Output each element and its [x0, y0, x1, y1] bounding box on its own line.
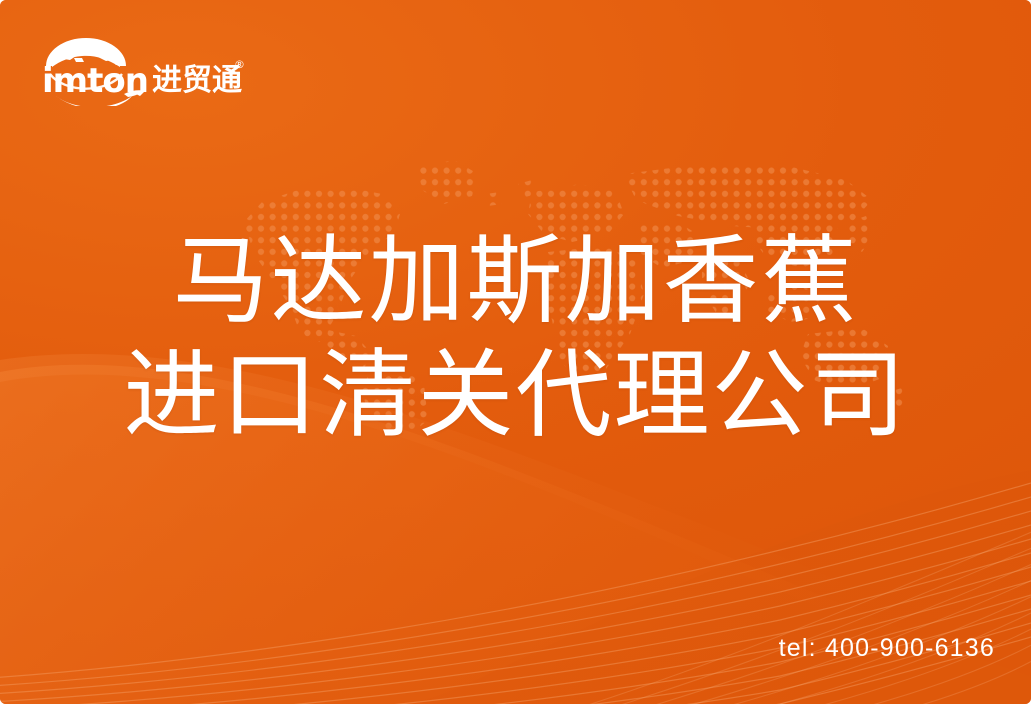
- logo-chinese-name: 进贸通: [152, 63, 242, 98]
- headline-line-2: 进口清关代理公司: [0, 342, 1031, 450]
- headline-line-1: 马达加斯加香蕉: [0, 228, 1031, 336]
- registered-trademark-symbol: ®: [234, 58, 245, 71]
- promo-banner: imton 进贸通 ® 马达加斯加香蕉 进口清关代理公司 tel: 400-90…: [0, 0, 1031, 704]
- brand-logo[interactable]: imton 进贸通 ®: [36, 34, 246, 106]
- headline: 马达加斯加香蕉 进口清关代理公司: [0, 228, 1031, 449]
- contact-telephone[interactable]: tel: 400-900-6136: [779, 634, 995, 663]
